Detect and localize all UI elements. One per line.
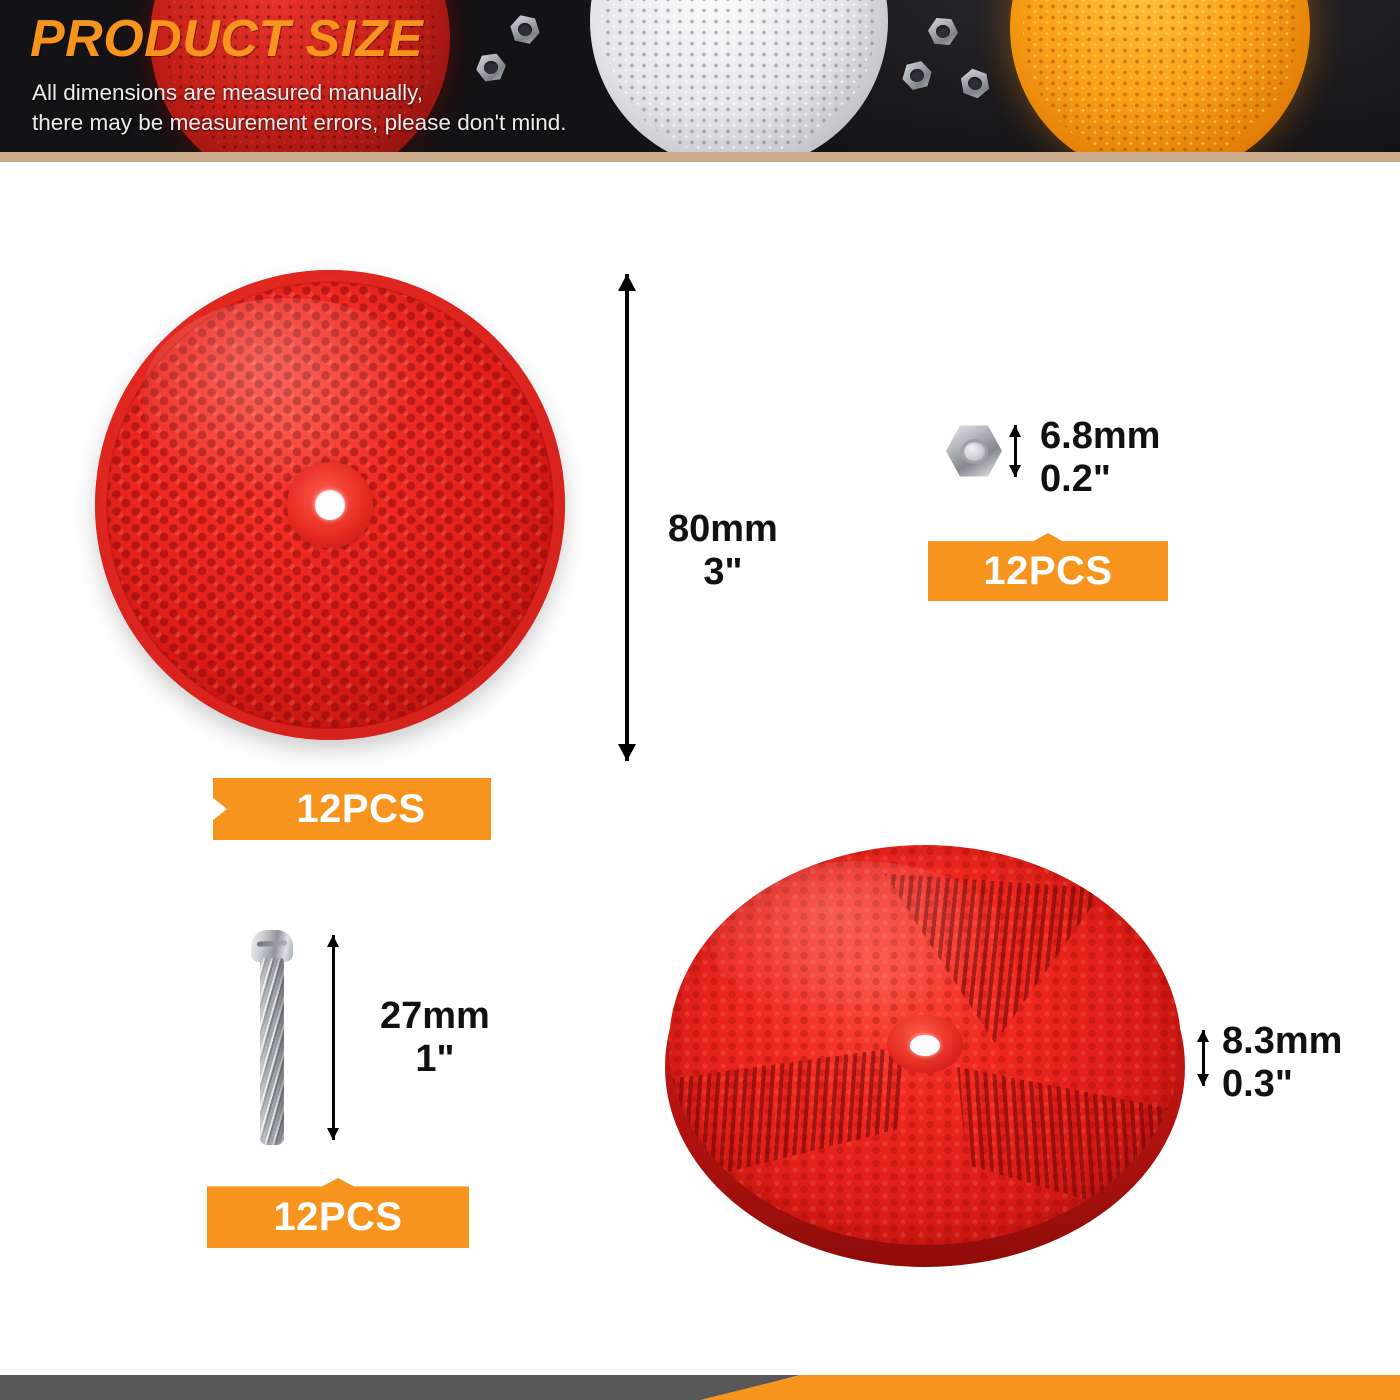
- dimension-label-27mm: 27mm 1": [380, 995, 490, 1080]
- header-accent-rule: [0, 152, 1400, 162]
- reflector-mounting-hole: [887, 1015, 963, 1073]
- dimension-label-6-8mm: 6.8mm 0.2": [1040, 415, 1160, 500]
- arrow-head-down-icon: [327, 1128, 339, 1140]
- quantity-badge-nut: 12PCS: [928, 533, 1168, 601]
- reflector-angled-view: [665, 845, 1185, 1275]
- quantity-badge-reflector: 12PCS: [213, 778, 491, 840]
- dimension-arrow-8-3mm: [1196, 1030, 1210, 1086]
- reflector-highlight: [142, 298, 433, 495]
- dimension-arrow-6-8mm: [1008, 425, 1022, 477]
- dimension-line: [332, 935, 335, 1140]
- quantity-badge-screw: 12PCS: [207, 1178, 469, 1248]
- arrow-head-down-icon: [1009, 465, 1021, 477]
- dimension-arrow-80mm: [618, 274, 636, 761]
- dimension-line: [625, 274, 629, 761]
- arrow-head-up-icon: [1009, 425, 1021, 437]
- reflector-mounting-hole: [287, 462, 373, 548]
- arrow-head-up-icon: [327, 935, 339, 947]
- footer-gray-segment: [0, 1375, 800, 1400]
- arrow-head-up-icon: [618, 274, 636, 291]
- header-disclaimer: All dimensions are measured manually, th…: [32, 78, 567, 139]
- reflector-face: [669, 845, 1181, 1245]
- dimension-label-8-3mm: 8.3mm 0.3": [1222, 1020, 1342, 1105]
- hex-nut-icon: [946, 425, 1002, 477]
- screw-icon: [250, 930, 294, 1145]
- arrow-head-up-icon: [1197, 1030, 1209, 1042]
- reflector-highlight: [710, 861, 1007, 1021]
- header-banner: PRODUCT SIZE All dimensions are measured…: [0, 0, 1400, 162]
- footer-bar: [0, 1375, 1400, 1400]
- screw-threaded-shaft: [260, 958, 284, 1145]
- arrow-head-down-icon: [1197, 1074, 1209, 1086]
- product-size-infographic: PRODUCT SIZE All dimensions are measured…: [0, 0, 1400, 1400]
- page-title: PRODUCT SIZE: [30, 13, 423, 65]
- dimension-label-80mm: 80mm 3": [668, 508, 778, 593]
- arrow-head-down-icon: [618, 744, 636, 761]
- reflector-front-view: [95, 270, 565, 740]
- dimension-arrow-27mm: [325, 935, 341, 1140]
